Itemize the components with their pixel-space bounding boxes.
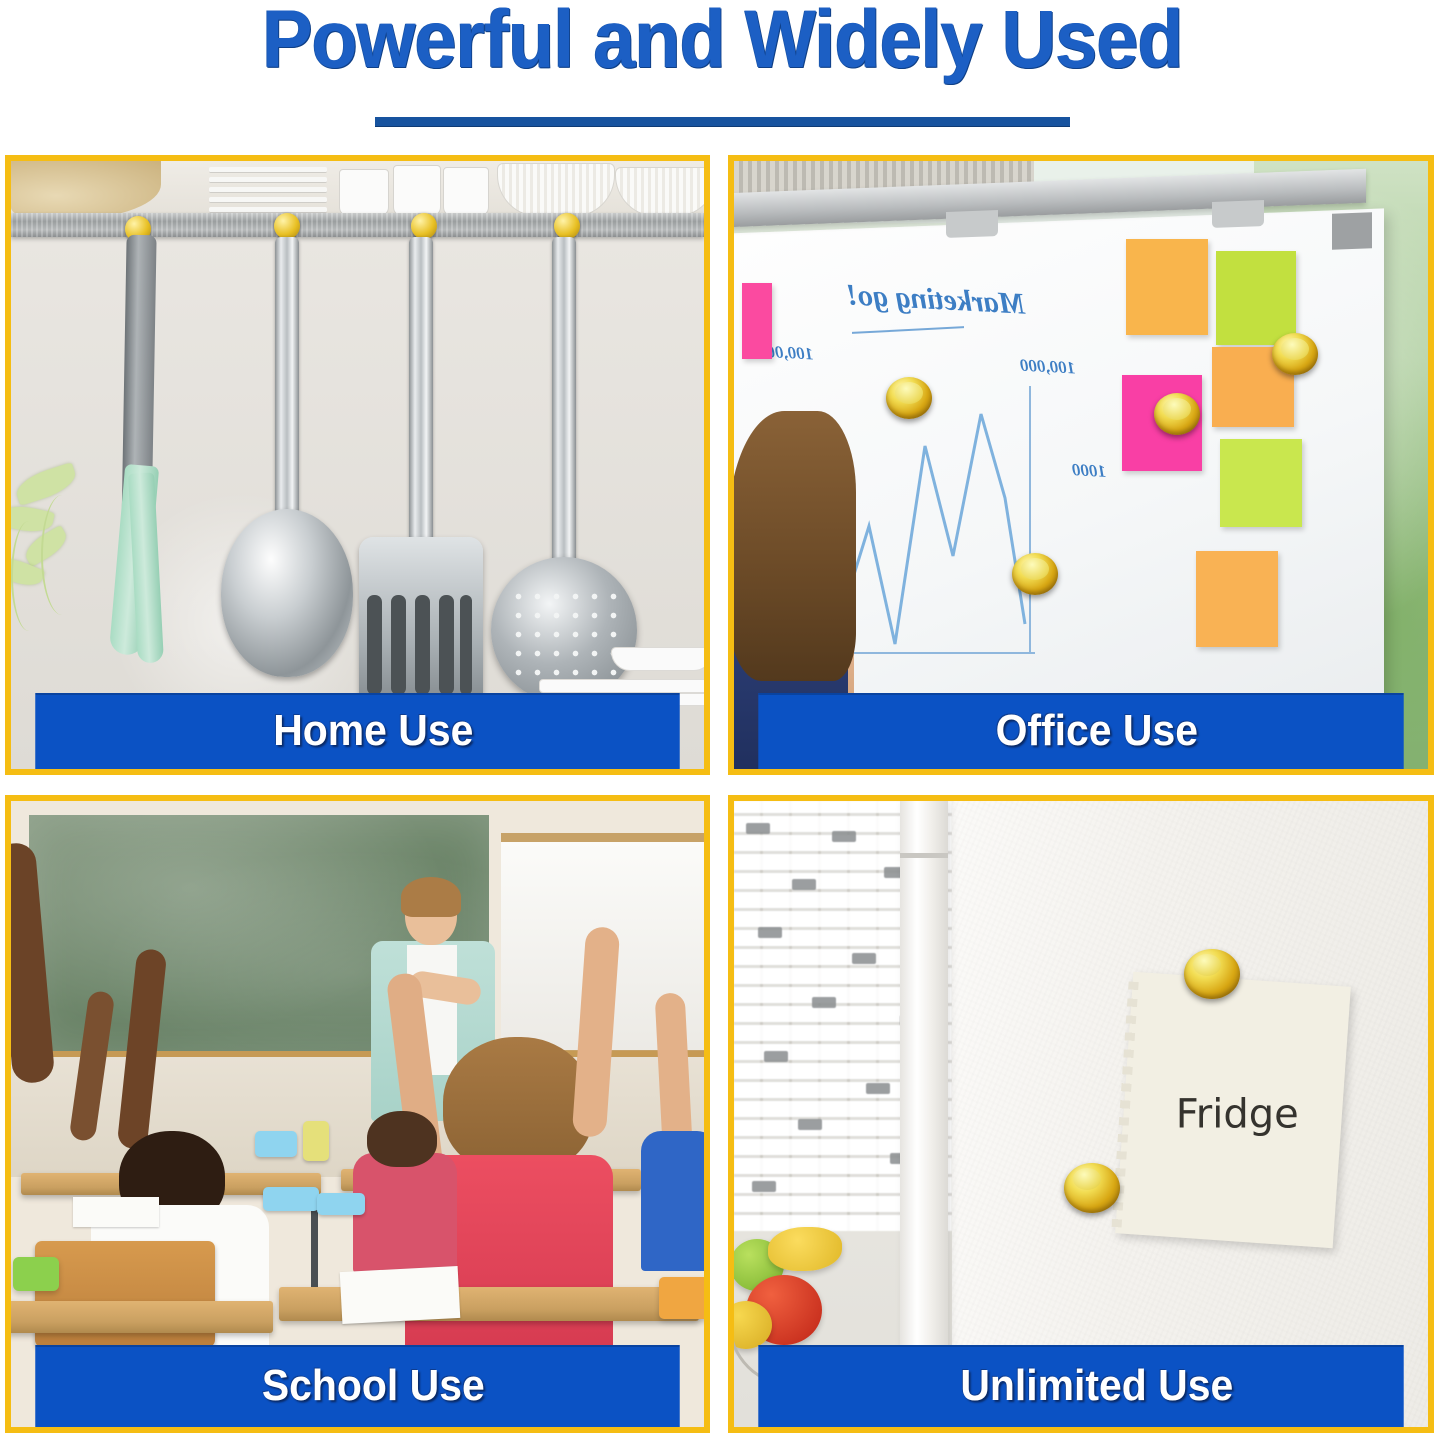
pencil-case-3 <box>255 1131 297 1157</box>
caption-school-use-label: School Use <box>35 1345 679 1427</box>
student-4-head <box>367 1111 437 1167</box>
worksheet-paper <box>340 1266 461 1324</box>
fridge-handle <box>900 801 948 1427</box>
student-4-body <box>353 1153 457 1273</box>
person-hair <box>734 411 856 681</box>
worksheet-paper-2 <box>73 1197 159 1227</box>
green-container <box>13 1257 59 1291</box>
pencil-case-2 <box>317 1193 365 1215</box>
orange-block <box>659 1277 704 1319</box>
caption-home-use: Home Use <box>35 693 679 769</box>
student-3-body <box>641 1131 704 1271</box>
sticky-note-orange-1 <box>1126 239 1208 335</box>
pencil-case-1 <box>263 1187 319 1211</box>
fridge-note-paper: Fridge <box>1115 972 1351 1249</box>
gold-magnet-3 <box>1272 333 1318 375</box>
infographic-page: Powerful and Widely Used <box>0 0 1445 1438</box>
card-unlimited-use[interactable]: Fridge Unlimited Use <box>728 795 1434 1433</box>
desk-front-left <box>11 1301 273 1333</box>
gold-magnet-1 <box>886 377 932 419</box>
caption-office-use: Office Use <box>758 693 1403 769</box>
gold-magnet-hook-3 <box>411 213 437 239</box>
home-use-photo <box>11 161 704 769</box>
gold-magnet-note <box>1184 949 1240 999</box>
fridge-scene: Fridge <box>734 801 1428 1427</box>
school-use-photo <box>11 801 704 1427</box>
stacked-plates <box>209 167 327 217</box>
mug-1 <box>339 169 389 217</box>
card-office-use[interactable]: Marketing go! 100,000 100,000 1000 <box>728 155 1434 775</box>
gold-magnet-door <box>1064 1163 1120 1213</box>
whiteboard-clip-2 <box>1212 200 1264 228</box>
whiteboard-corner-bracket <box>1332 212 1372 250</box>
page-title: Powerful and Widely Used <box>58 0 1387 86</box>
office-scene: Marketing go! 100,000 100,000 1000 <box>734 161 1428 769</box>
use-case-grid: Home Use Marketing go! 100,000 <box>5 155 1440 1433</box>
teacher-hair <box>401 877 461 917</box>
kitchen-scene <box>11 161 704 769</box>
unlimited-use-photo: Fridge <box>734 801 1428 1427</box>
gold-magnet-hook-2 <box>274 213 300 239</box>
mug-3 <box>443 167 489 217</box>
whiteboard-axis-note-top: 100,000 <box>1020 356 1075 379</box>
utensil-serving-spoon <box>249 237 325 717</box>
cup-holder <box>303 1121 329 1161</box>
student-head-2 <box>443 1037 593 1173</box>
office-use-photo: Marketing go! 100,000 100,000 1000 <box>734 161 1428 769</box>
caption-school-use: School Use <box>35 1345 679 1427</box>
gold-magnet-hook-4 <box>554 213 580 239</box>
sticky-note-orange-3 <box>1196 551 1278 647</box>
sticky-note-green-2 <box>1220 439 1302 527</box>
card-home-use[interactable]: Home Use <box>5 155 710 775</box>
utensil-slotted-turner <box>383 237 459 757</box>
caption-home-use-label: Home Use <box>35 693 679 769</box>
header: Powerful and Widely Used <box>0 0 1445 150</box>
fridge-note-text: Fridge <box>1176 1091 1299 1137</box>
gold-magnet-2 <box>1154 393 1200 435</box>
sticky-note-pink-2 <box>742 283 772 359</box>
whiteboard-clip-1 <box>946 210 998 238</box>
banana-fruit <box>768 1227 842 1271</box>
magnetic-rail <box>11 213 704 237</box>
caption-office-use-label: Office Use <box>758 693 1403 769</box>
classroom-scene <box>11 801 704 1427</box>
title-underline-rule <box>375 117 1070 126</box>
utensil-tongs <box>115 235 163 615</box>
caption-unlimited-use-label: Unlimited Use <box>758 1345 1403 1427</box>
mug-2 <box>393 165 441 217</box>
sticky-note-green-1 <box>1216 251 1296 345</box>
ribbed-bowl <box>497 163 615 217</box>
dish-stack-2 <box>539 679 704 693</box>
gold-magnet-4 <box>1012 553 1058 595</box>
card-school-use[interactable]: School Use <box>5 795 710 1433</box>
caption-unlimited-use: Unlimited Use <box>758 1345 1403 1427</box>
dish-stack <box>611 647 704 671</box>
